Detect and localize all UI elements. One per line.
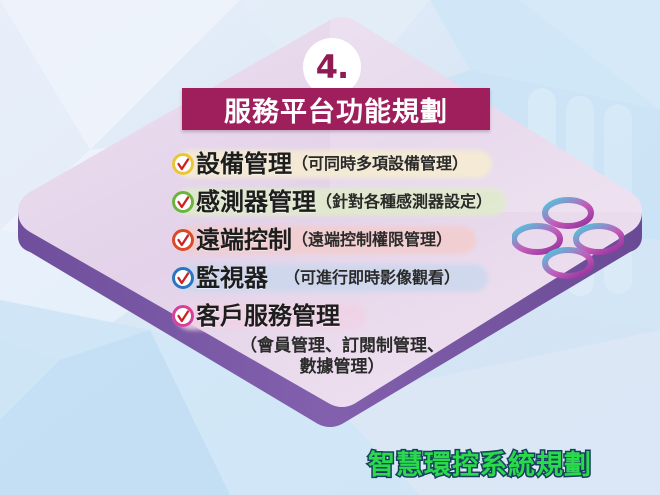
check-circle-icon [172, 305, 194, 327]
feature-title: 客戶服務管理 [196, 304, 340, 328]
slide-canvas: 4. 服務平台功能規劃 設備管理 （可同時多項設備管理） [0, 0, 660, 495]
feature-title: 設備管理 [196, 152, 292, 176]
page-title: 服務平台功能規劃 [224, 90, 448, 129]
feature-title: 感測器管理 [196, 190, 316, 214]
feature-item-customer-service-management[interactable]: 客戶服務管理 [170, 298, 510, 334]
ring-bottom [545, 250, 591, 276]
title-banner: 服務平台功能規劃 [182, 88, 490, 130]
check-circle-icon [172, 153, 194, 175]
check-circle-icon [172, 229, 194, 251]
check-circle-icon [172, 191, 194, 213]
feature-title: 遠端控制 [196, 228, 292, 252]
feature-description-line-2: 數據管理） [192, 357, 492, 378]
ring-top [545, 200, 591, 226]
ring-right [576, 226, 622, 252]
decorative-rings [512, 196, 624, 280]
feature-description: （遠端控制權限管理） [292, 232, 452, 248]
feature-description-line-1: （會員管理、訂閱制管理、 [192, 336, 492, 357]
check-circle-icon [172, 267, 194, 289]
feature-item-sensor-management[interactable]: 感測器管理 （針對各種感測器設定） [170, 184, 510, 220]
section-number-text: 4. [316, 48, 348, 86]
footer-label: 智慧環控系統規劃 [368, 443, 592, 482]
feature-list: 設備管理 （可同時多項設備管理） 感測器管理 （針對各種感測器設定） [170, 146, 510, 379]
feature-item-remote-control[interactable]: 遠端控制 （遠端控制權限管理） [170, 222, 510, 258]
ring-left [514, 226, 560, 252]
feature-description: （可進行即時影像觀看） [284, 270, 460, 286]
feature-item-monitor[interactable]: 監視器 （可進行即時影像觀看） [170, 260, 510, 296]
feature-description: （針對各種感測器設定） [316, 194, 492, 210]
feature-item-device-management[interactable]: 設備管理 （可同時多項設備管理） [170, 146, 510, 182]
feature-description: （可同時多項設備管理） [292, 156, 468, 172]
feature-title: 監視器 [196, 266, 268, 290]
